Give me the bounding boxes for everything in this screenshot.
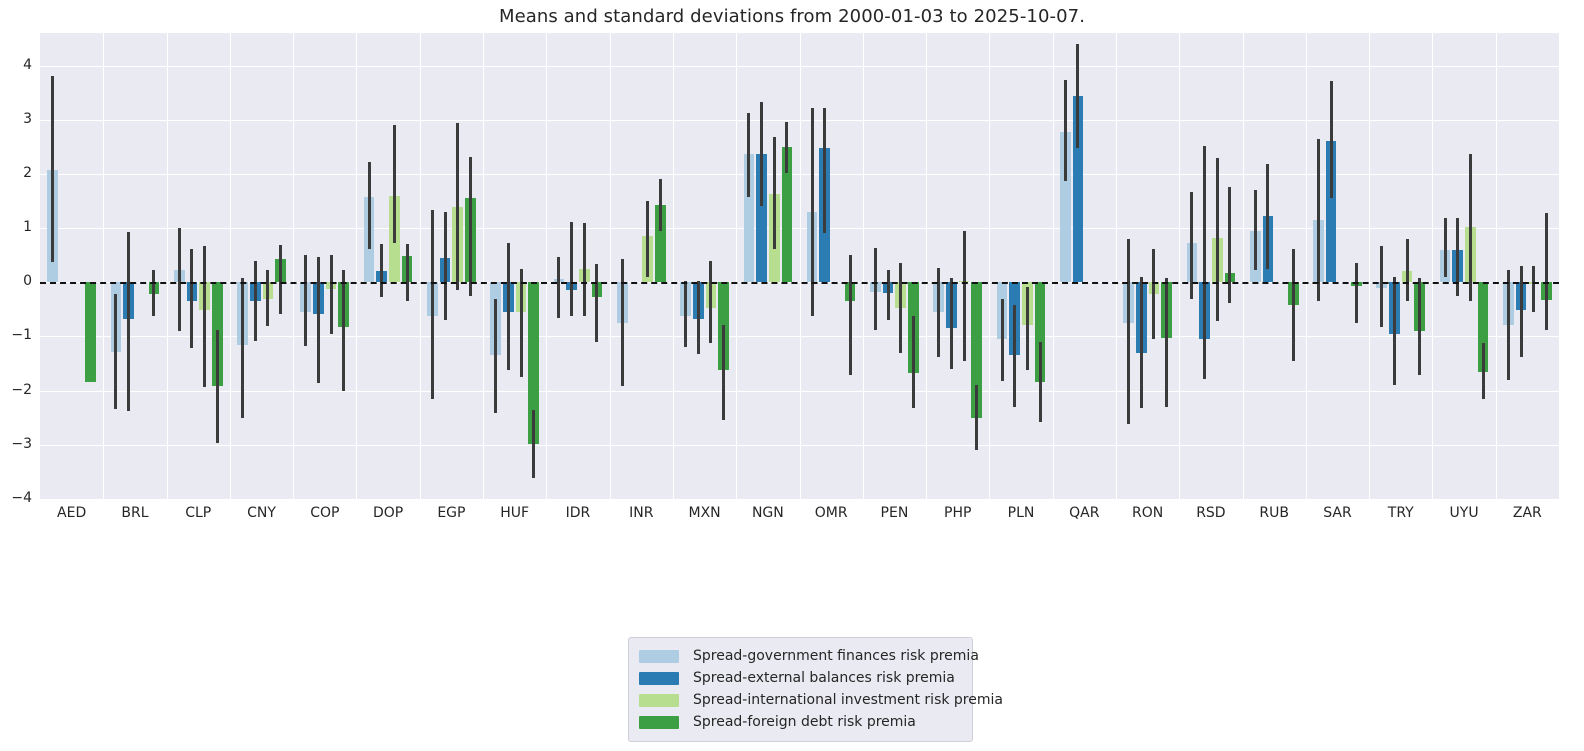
gridline-vertical	[736, 33, 737, 499]
error-bar	[557, 257, 560, 318]
gridline-vertical	[420, 33, 421, 499]
gridline-vertical	[1369, 33, 1370, 499]
y-axis-tick-label: −3	[0, 436, 32, 452]
error-bar	[975, 385, 978, 450]
x-axis-tick-label: MXN	[688, 505, 720, 521]
error-bar	[330, 255, 333, 334]
gridline-vertical	[989, 33, 990, 499]
gridline-vertical	[863, 33, 864, 499]
error-bar	[1292, 249, 1295, 361]
y-axis-tick-label: 2	[0, 165, 32, 181]
error-bar	[431, 210, 434, 399]
error-bar	[1127, 239, 1130, 424]
error-bar	[1001, 299, 1004, 381]
error-bar	[241, 278, 244, 418]
error-bar	[1254, 190, 1257, 270]
error-bar	[203, 246, 206, 387]
error-bar	[1140, 277, 1143, 408]
error-bar	[811, 108, 814, 316]
x-axis-tick-label: COP	[310, 505, 339, 521]
error-bar	[368, 162, 371, 249]
gridline-vertical	[1496, 33, 1497, 499]
error-bar	[1076, 44, 1079, 149]
error-bar	[912, 316, 915, 408]
legend-swatch-icon	[639, 694, 679, 707]
x-axis-tick-label: SAR	[1323, 505, 1351, 521]
error-bar	[595, 264, 598, 342]
error-bar	[659, 179, 662, 230]
gridline-vertical	[926, 33, 927, 499]
gridline-vertical	[356, 33, 357, 499]
error-bar	[178, 228, 181, 331]
error-bar	[380, 244, 383, 297]
error-bar	[1013, 305, 1016, 407]
error-bar	[469, 157, 472, 296]
y-axis-tick-label: −2	[0, 382, 32, 398]
chart-title: Means and standard deviations from 2000-…	[0, 6, 1584, 27]
gridline-vertical	[1116, 33, 1117, 499]
error-bar	[266, 270, 269, 325]
gridline-horizontal	[40, 499, 1559, 500]
error-bar	[887, 270, 890, 320]
error-bar	[1330, 81, 1333, 199]
legend-swatch-icon	[639, 672, 679, 685]
gridline-vertical	[483, 33, 484, 499]
error-bar	[1393, 277, 1396, 385]
legend-swatch-icon	[639, 650, 679, 663]
chart-figure: Means and standard deviations from 2000-…	[0, 0, 1584, 751]
x-axis-tick-label: RSD	[1196, 505, 1225, 521]
x-axis-tick-label: ZAR	[1513, 505, 1542, 521]
error-bar	[684, 281, 687, 347]
error-bar	[760, 102, 763, 207]
error-bar	[773, 137, 776, 249]
error-bar	[1545, 213, 1548, 330]
y-axis-tick-label: 0	[0, 273, 32, 289]
x-axis-tick-label: RON	[1132, 505, 1163, 521]
gridline-vertical	[1179, 33, 1180, 499]
error-bar	[279, 245, 282, 313]
error-bar	[722, 325, 725, 421]
error-bar	[304, 255, 307, 346]
gridline-vertical	[610, 33, 611, 499]
error-bar	[849, 255, 852, 375]
error-bar	[697, 281, 700, 354]
x-axis-tick-label: BRL	[121, 505, 148, 521]
error-bar	[747, 113, 750, 196]
error-bar	[1380, 246, 1383, 326]
error-bar	[963, 231, 966, 361]
legend-item[interactable]: Spread-government finances risk premia	[639, 645, 962, 667]
x-axis-tick-label: INR	[629, 505, 653, 521]
gridline-vertical	[103, 33, 104, 499]
error-bar	[127, 232, 130, 411]
error-bar	[1520, 266, 1523, 357]
error-bar	[1165, 278, 1168, 407]
x-axis-tick-label: PEN	[881, 505, 909, 521]
error-bar	[1039, 342, 1042, 422]
chart-legend: Spread-government finances risk premiaSp…	[628, 637, 973, 742]
gridline-vertical	[1432, 33, 1433, 499]
error-bar	[152, 270, 155, 316]
error-bar	[621, 259, 624, 386]
error-bar	[823, 108, 826, 234]
bar	[85, 282, 96, 382]
error-bar	[874, 248, 877, 330]
legend-item-label: Spread-external balances risk premia	[693, 670, 955, 686]
error-bar	[254, 261, 257, 341]
legend-swatch-icon	[639, 716, 679, 729]
x-axis-tick-label: CLP	[185, 505, 211, 521]
y-axis-tick-label: 1	[0, 219, 32, 235]
error-bar	[393, 125, 396, 243]
error-bar	[1266, 164, 1269, 269]
gridline-vertical	[1053, 33, 1054, 499]
y-axis-tick-label: −4	[0, 490, 32, 506]
legend-item-label: Spread-government finances risk premia	[693, 648, 979, 664]
gridline-vertical	[1306, 33, 1307, 499]
legend-item-label: Spread-foreign debt risk premia	[693, 714, 916, 730]
error-bar	[1418, 278, 1421, 376]
error-bar	[785, 122, 788, 173]
error-bar	[1064, 80, 1067, 181]
error-bar	[520, 269, 523, 376]
y-axis-tick-label: 4	[0, 57, 32, 73]
x-axis-tick-label: IDR	[566, 505, 591, 521]
gridline-vertical	[293, 33, 294, 499]
error-bar	[709, 261, 712, 343]
legend-item[interactable]: Spread-international investment risk pre…	[639, 689, 962, 711]
legend-item[interactable]: Spread-foreign debt risk premia	[639, 711, 962, 733]
error-bar	[317, 257, 320, 383]
error-bar	[406, 244, 409, 301]
error-bar	[950, 278, 953, 369]
x-axis-tick-label: UYU	[1450, 505, 1479, 521]
error-bar	[583, 223, 586, 316]
error-bar	[444, 212, 447, 320]
gridline-vertical	[167, 33, 168, 499]
error-bar	[532, 410, 535, 479]
error-bar	[1406, 239, 1409, 301]
x-axis-tick-label: TRY	[1388, 505, 1414, 521]
error-bar	[1444, 218, 1447, 277]
gridline-vertical	[1243, 33, 1244, 499]
error-bar	[1203, 146, 1206, 379]
error-bar	[1507, 270, 1510, 379]
y-axis-tick-label: 3	[0, 111, 32, 127]
x-axis-tick-label: RUB	[1259, 505, 1289, 521]
error-bar	[1532, 266, 1535, 312]
x-axis-tick-label: EGP	[437, 505, 465, 521]
x-axis-tick-label: DOP	[373, 505, 403, 521]
x-axis-tick-label: PLN	[1008, 505, 1035, 521]
gridline-vertical	[546, 33, 547, 499]
error-bar	[1317, 139, 1320, 302]
x-axis-tick-label: CNY	[247, 505, 276, 521]
x-axis-tick-label: PHP	[944, 505, 971, 521]
error-bar	[1152, 249, 1155, 339]
x-axis-tick-label: HUF	[500, 505, 529, 521]
error-bar	[456, 123, 459, 290]
error-bar	[114, 294, 117, 409]
zero-reference-line	[40, 282, 1559, 284]
error-bar	[507, 243, 510, 370]
x-axis-tick-label: QAR	[1069, 505, 1099, 521]
error-bar	[190, 249, 193, 349]
error-bar	[494, 299, 497, 414]
error-bar	[646, 201, 649, 277]
plot-area	[40, 33, 1559, 499]
error-bar	[1026, 287, 1029, 370]
error-bar	[570, 222, 573, 316]
legend-item[interactable]: Spread-external balances risk premia	[639, 667, 962, 689]
x-axis-tick-label: NGN	[752, 505, 784, 521]
legend-item-label: Spread-international investment risk pre…	[693, 692, 1003, 708]
error-bar	[899, 263, 902, 353]
error-bar	[216, 330, 219, 443]
error-bar	[51, 76, 54, 261]
gridline-vertical	[230, 33, 231, 499]
error-bar	[1469, 154, 1472, 301]
error-bar	[1355, 263, 1358, 323]
gridline-vertical	[673, 33, 674, 499]
gridline-vertical	[800, 33, 801, 499]
error-bar	[1228, 187, 1231, 303]
y-axis-tick-label: −1	[0, 327, 32, 343]
error-bar	[1482, 343, 1485, 399]
error-bar	[342, 270, 345, 390]
error-bar	[1216, 158, 1219, 322]
x-axis-tick-label: AED	[57, 505, 86, 521]
x-axis-tick-label: OMR	[815, 505, 848, 521]
